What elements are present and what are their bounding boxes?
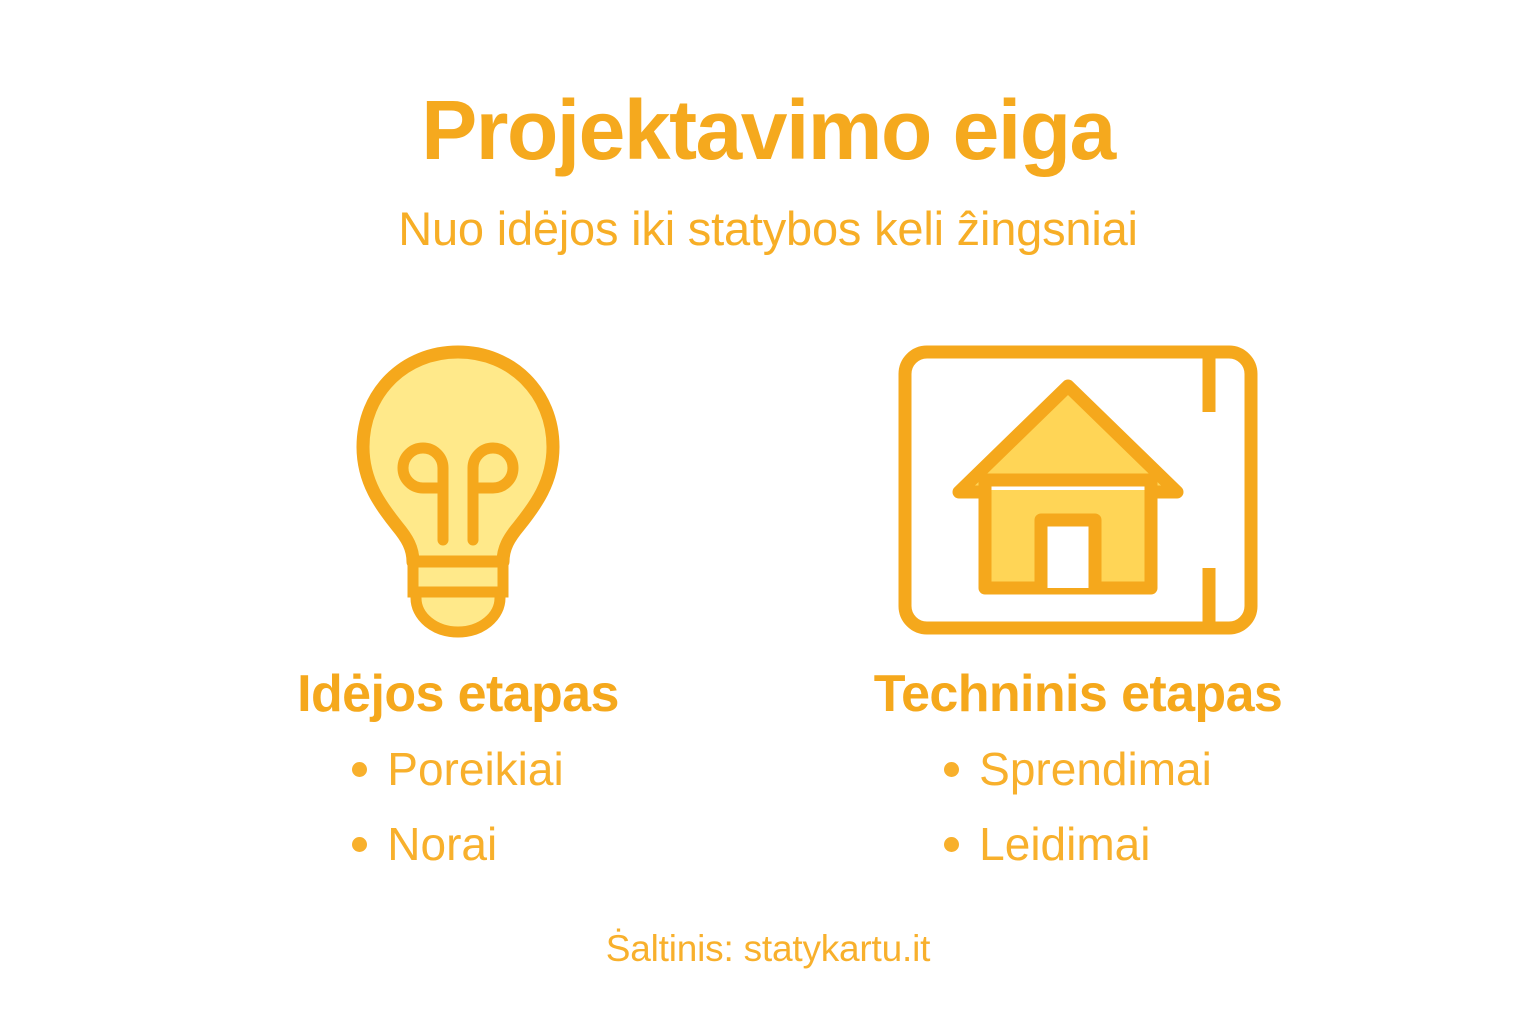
bullet-dot-icon (352, 837, 367, 852)
list-item: Poreikiai (352, 746, 563, 821)
lightbulb-icon (343, 340, 573, 640)
list-item-label: Leidimai (979, 821, 1150, 867)
bullet-dot-icon (352, 762, 367, 777)
stage-heading-technical: Techninis etapas (874, 640, 1282, 720)
stage-heading-idea: Idėjos etapas (297, 640, 619, 720)
footer: Ṡaltinis: statykartu.it (0, 930, 1536, 967)
bullet-dot-icon (944, 762, 959, 777)
stage-columns: Idėjos etapas Poreikiai Norai (0, 340, 1536, 896)
stage-column-idea: Idėjos etapas Poreikiai Norai (178, 340, 738, 896)
blueprint-house-icon-wrap (893, 340, 1263, 640)
list-item: Sprendimai (944, 746, 1212, 821)
stage-bullets-idea: Poreikiai Norai (352, 720, 563, 896)
page-subtitle: Nuo idėjos iki statybos keli ẑingsniai (0, 172, 1536, 252)
lightbulb-icon-wrap (343, 340, 573, 640)
infographic-poster: Projektavimo eiga Nuo idėjos iki statybo… (0, 0, 1536, 1024)
list-item: Norai (352, 821, 563, 896)
stage-bullets-technical: Sprendimai Leidimai (944, 720, 1212, 896)
blueprint-house-icon (893, 340, 1263, 640)
list-item-label: Sprendimai (979, 746, 1212, 792)
source-attribution: Ṡaltinis: statykartu.it (0, 930, 1536, 967)
list-item-label: Poreikiai (387, 746, 563, 792)
list-item-label: Norai (387, 821, 497, 867)
page-title: Projektavimo eiga (0, 88, 1536, 172)
list-item: Leidimai (944, 821, 1212, 896)
header: Projektavimo eiga Nuo idėjos iki statybo… (0, 88, 1536, 252)
stage-column-technical: Techninis etapas Sprendimai Leidimai (798, 340, 1358, 896)
bullet-dot-icon (944, 837, 959, 852)
